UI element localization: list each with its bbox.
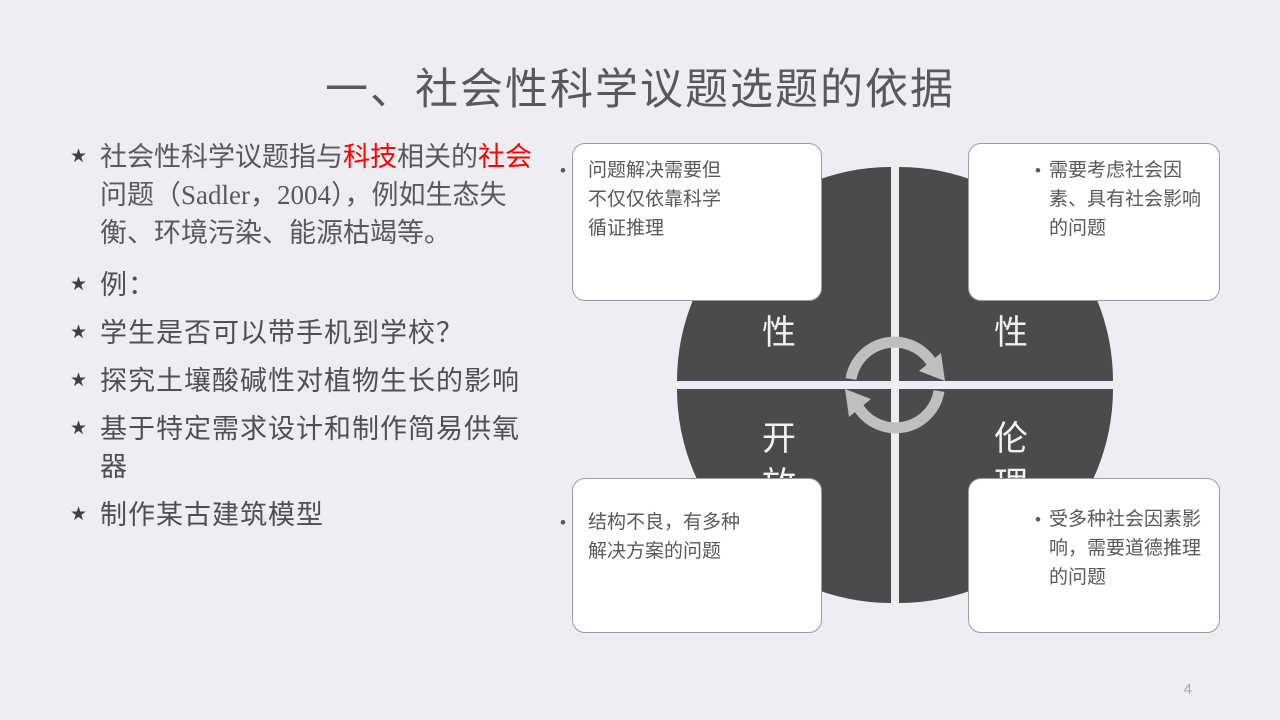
bullet-text-definition: 社会性科学议题指与科技相关的社会问题（Sadler，2004），例如生态失衡、环… [100,138,542,252]
list-item: ★ 例： [62,266,542,304]
list-item: ★ 基于特定需求设计和制作简易供氧器 [62,410,542,486]
star-bullet-icon: ★ [62,410,100,448]
card-bullet-icon: • [1035,156,1041,185]
segment-plain-1: 社会性科学议题指与 [100,142,343,172]
segment-highlight-keji: 科技 [343,142,397,172]
card-bullet-icon: • [560,508,566,537]
list-item: ★ 制作某古建筑模型 [62,496,542,534]
segment-highlight-shehui: 社会 [478,142,532,172]
star-bullet-icon: ★ [62,266,100,304]
card-bullet-icon: • [1035,505,1041,534]
bullet-text-example-2: 探究土壤酸碱性对植物生长的影响 [100,362,542,400]
callout-text-wrapper-scientific: • 问题解决需要但不仅仅依靠科学循证推理 [573,144,738,243]
card-bullet-icon: • [560,156,566,185]
list-item: ★ 社会性科学议题指与科技相关的社会问题（Sadler，2004），例如生态失衡… [62,138,542,252]
quadrant-label-line2: 性 [994,315,1030,352]
page-number: 4 [1184,681,1192,698]
callout-text-wrapper-ethical: • 受多种社会因素影响，需要道德推理的问题 [1049,479,1219,592]
bullet-text-example-4: 制作某古建筑模型 [100,496,542,534]
quadrant-label-line2: 性 [762,315,798,352]
callout-card-scientific[interactable]: • 问题解决需要但不仅仅依靠科学循证推理 [572,143,822,301]
callout-card-open-ended[interactable]: • 结构不良，有多种解决方案的问题 [572,478,822,633]
bullet-text-example-3: 基于特定需求设计和制作简易供氧器 [100,410,542,486]
star-bullet-icon: ★ [62,496,100,534]
page-title: 一、社会性科学议题选题的依据 [0,55,1280,117]
star-bullet-icon: ★ [62,362,100,400]
callout-text-scientific: 问题解决需要但不仅仅依靠科学循证推理 [588,156,738,243]
segment-plain-2: 相关的 [397,142,478,172]
star-bullet-icon: ★ [62,138,100,176]
star-bullet-icon: ★ [62,314,100,352]
list-item: ★ 探究土壤酸碱性对植物生长的影响 [62,362,542,400]
bullet-text-examples-heading: 例： [100,266,542,304]
callout-card-ethical[interactable]: • 受多种社会因素影响，需要道德推理的问题 [968,478,1220,633]
callout-text-wrapper-open-ended: • 结构不良，有多种解决方案的问题 [573,479,740,566]
callout-text-ethical: 受多种社会因素影响，需要道德推理的问题 [1049,505,1201,592]
list-item: ★ 学生是否可以带手机到学校？ [62,314,542,352]
callout-text-open-ended: 结构不良，有多种解决方案的问题 [588,508,740,566]
callout-text-social: 需要考虑社会因素、具有社会影响的问题 [1049,156,1201,243]
callout-card-social[interactable]: • 需要考虑社会因素、具有社会影响的问题 [968,143,1220,301]
bullet-list: ★ 社会性科学议题指与科技相关的社会问题（Sadler，2004），例如生态失衡… [62,138,542,544]
bullet-text-example-1: 学生是否可以带手机到学校？ [100,314,542,352]
ssi-criteria-diagram: 科学性 社会性 开放性 伦理性 • 问题解决需要但不仅仅依靠科学循证推理 [560,130,1240,670]
segment-plain-3: 问题（Sadler，2004），例如生态失衡、环境污染、能源枯竭等。 [100,180,506,248]
callout-text-wrapper-social: • 需要考虑社会因素、具有社会影响的问题 [1049,144,1219,243]
